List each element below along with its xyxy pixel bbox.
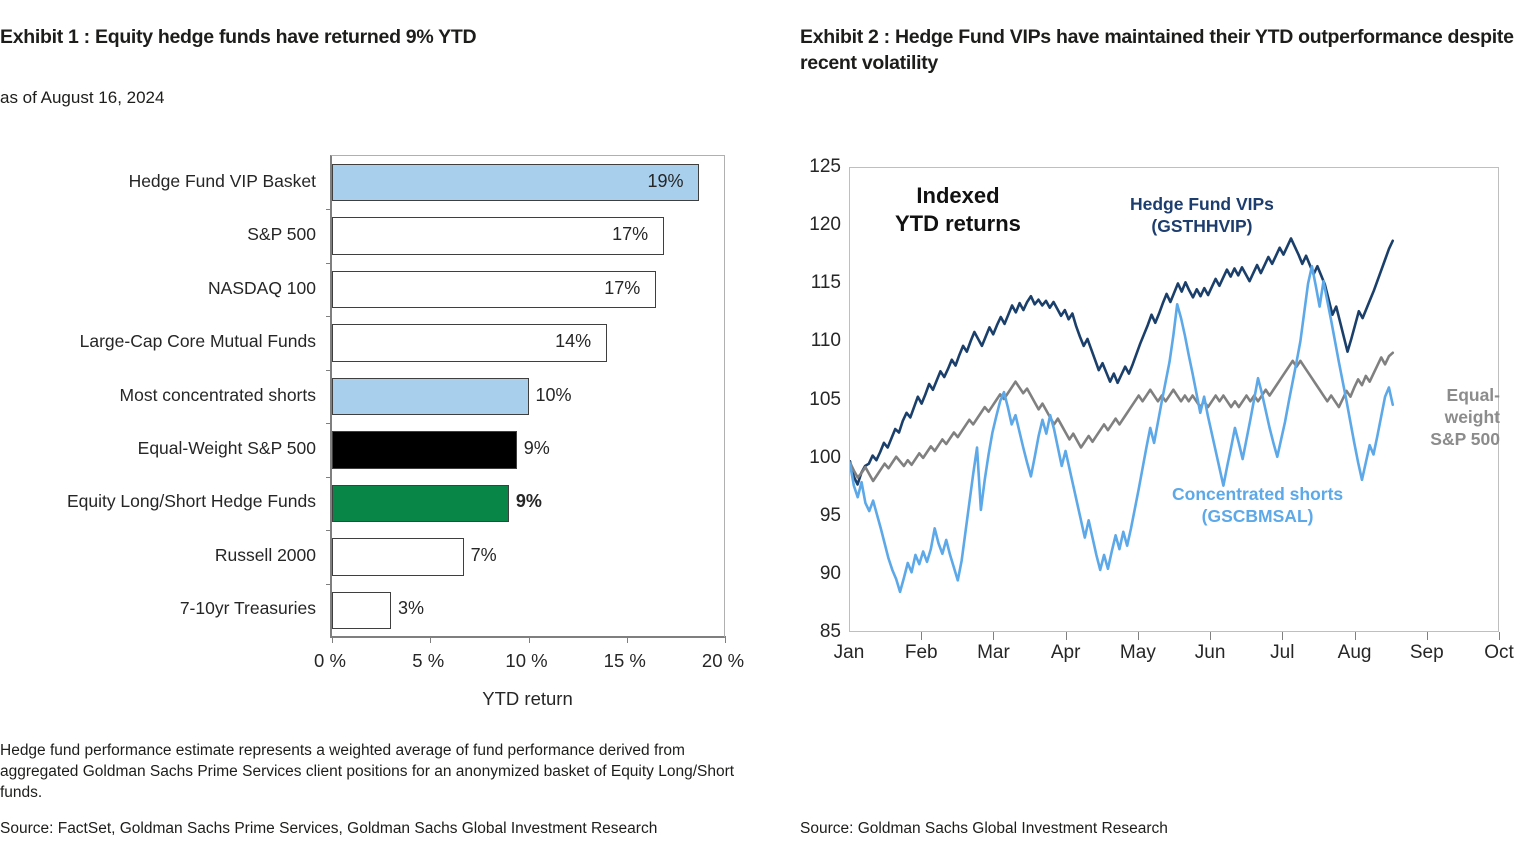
bar-value-label-5: 10% xyxy=(536,385,572,406)
bar-chart-plot-area: 19%17%17%14%10%9%9%7%3% xyxy=(330,155,725,638)
bar-x-tick-label-3: 15 % xyxy=(604,650,646,672)
annotation-indexed-line2: YTD returns xyxy=(895,210,1021,238)
line-y-tick-label-1: 90 xyxy=(795,563,841,585)
line-y-tick-label-3: 100 xyxy=(795,447,841,469)
bar-category-label-3: NASDAQ 100 xyxy=(0,278,316,299)
line-y-tick-label-0: 85 xyxy=(795,621,841,643)
bar-y-tick-5 xyxy=(326,423,332,424)
exhibit-2-title: Exhibit 2 : Hedge Fund VIPs have maintai… xyxy=(800,24,1520,76)
line-x-tick-label-5: Jun xyxy=(1195,642,1226,664)
line-x-tick-8 xyxy=(1427,632,1428,640)
annotation-hedge-fund-vips: Hedge Fund VIPs (GSTHHVIP) xyxy=(1130,193,1274,237)
annotation-ew-line3: S&P 500 xyxy=(1388,428,1500,450)
bar-x-tick-0 xyxy=(332,636,333,643)
line-y-tick-label-7: 120 xyxy=(795,214,841,236)
bar-category-label-7: Equity Long/Short Hedge Funds xyxy=(0,491,316,512)
exhibit-1-title: Exhibit 1 : Equity hedge funds have retu… xyxy=(0,24,740,50)
bar-6 xyxy=(332,431,517,468)
line-x-tick-label-6: Jul xyxy=(1270,642,1294,664)
line-x-tick-6 xyxy=(1282,632,1283,640)
bar-y-tick-4 xyxy=(326,370,332,371)
annotation-ew-line1: Equal- xyxy=(1388,384,1500,406)
line-y-tick-label-2: 95 xyxy=(795,505,841,527)
bar-9 xyxy=(332,592,391,629)
bar-value-label-7: 9% xyxy=(516,491,542,512)
bar-chart-x-axis-title: YTD return xyxy=(330,688,725,710)
bar-category-label-2: S&P 500 xyxy=(0,224,316,245)
bar-category-label-8: Russell 2000 xyxy=(0,545,316,566)
bar-category-label-1: Hedge Fund VIP Basket xyxy=(0,171,316,192)
line-x-tick-label-4: May xyxy=(1120,642,1156,664)
line-x-tick-3 xyxy=(1066,632,1067,640)
bar-7 xyxy=(332,485,509,522)
annotation-shorts-line2: (GSCBMSAL) xyxy=(1172,505,1343,527)
annotation-shorts-line1: Concentrated shorts xyxy=(1172,483,1343,505)
bar-5 xyxy=(332,378,529,415)
line-x-tick-9 xyxy=(1499,632,1500,640)
annotation-vips-line1: Hedge Fund VIPs xyxy=(1130,193,1274,215)
exhibit-1-source: Source: FactSet, Goldman Sachs Prime Ser… xyxy=(0,818,760,839)
exhibit-1-asof-label: as of August 16, 2024 xyxy=(0,88,164,108)
bar-x-tick-label-1: 5 % xyxy=(412,650,444,672)
line-y-tick-label-8: 125 xyxy=(795,156,841,178)
line-x-tick-7 xyxy=(1355,632,1356,640)
line-x-tick-label-7: Aug xyxy=(1338,642,1372,664)
bar-x-tick-1 xyxy=(430,636,431,643)
bar-x-tick-label-0: 0 % xyxy=(314,650,346,672)
bar-x-tick-4 xyxy=(725,636,726,643)
bar-value-label-8: 7% xyxy=(471,545,497,566)
line-y-tick-label-5: 110 xyxy=(795,330,841,352)
bar-x-tick-3 xyxy=(627,636,628,643)
annotation-indexed-line1: Indexed xyxy=(895,182,1021,210)
bar-8 xyxy=(332,538,464,575)
indexed-ytd-returns-line-chart: 859095100105110115120125 JanFebMarAprMay… xyxy=(790,120,1533,680)
line-x-tick-label-8: Sep xyxy=(1410,642,1444,664)
bar-category-label-4: Large-Cap Core Mutual Funds xyxy=(0,331,316,352)
bar-x-tick-2 xyxy=(529,636,530,643)
line-y-tick-label-4: 105 xyxy=(795,389,841,411)
bar-x-tick-label-2: 10 % xyxy=(505,650,547,672)
exhibit-1-panel: Exhibit 1 : Equity hedge funds have retu… xyxy=(0,0,766,862)
annotation-indexed-ytd-returns: Indexed YTD returns xyxy=(895,182,1021,238)
exhibit-2-panel: Exhibit 2 : Hedge Fund VIPs have maintai… xyxy=(790,0,1533,862)
line-y-tick-label-6: 115 xyxy=(795,272,841,294)
bar-value-label-3: 17% xyxy=(604,278,640,299)
bar-y-tick-3 xyxy=(326,316,332,317)
bar-y-tick-8 xyxy=(326,584,332,585)
line-x-tick-label-2: Mar xyxy=(977,642,1010,664)
bar-y-tick-6 xyxy=(326,477,332,478)
bar-value-label-1: 19% xyxy=(647,171,683,192)
bar-category-label-6: Equal-Weight S&P 500 xyxy=(0,438,316,459)
bar-value-label-9: 3% xyxy=(398,598,424,619)
bar-1 xyxy=(332,164,699,201)
bar-value-label-4: 14% xyxy=(555,331,591,352)
line-x-tick-label-3: Apr xyxy=(1051,642,1081,664)
bar-category-label-5: Most concentrated shorts xyxy=(0,385,316,406)
bar-value-label-2: 17% xyxy=(612,224,648,245)
line-x-tick-label-9: Oct xyxy=(1484,642,1514,664)
bar-x-tick-label-4: 20 % xyxy=(702,650,744,672)
line-x-tick-label-0: Jan xyxy=(834,642,865,664)
bar-y-tick-2 xyxy=(326,263,332,264)
bar-y-tick-1 xyxy=(326,209,332,210)
annotation-ew-line2: weight xyxy=(1388,406,1500,428)
ytd-return-bar-chart: 19%17%17%14%10%9%9%7%3% Hedge Fund VIP B… xyxy=(0,150,766,725)
bar-value-label-6: 9% xyxy=(524,438,550,459)
line-x-tick-4 xyxy=(1138,632,1139,640)
annotation-equal-weight-sp500: Equal- weight S&P 500 xyxy=(1388,384,1500,450)
exhibit-1-footnote: Hedge fund performance estimate represen… xyxy=(0,740,745,803)
bar-y-tick-7 xyxy=(326,530,332,531)
exhibit-2-source: Source: Goldman Sachs Global Investment … xyxy=(800,818,1500,839)
line-x-tick-2 xyxy=(993,632,994,640)
bar-category-label-9: 7-10yr Treasuries xyxy=(0,598,316,619)
annotation-concentrated-shorts: Concentrated shorts (GSCBMSAL) xyxy=(1172,483,1343,527)
annotation-vips-line2: (GSTHHVIP) xyxy=(1130,215,1274,237)
line-series-3 xyxy=(850,266,1393,592)
line-x-tick-5 xyxy=(1210,632,1211,640)
line-x-tick-label-1: Feb xyxy=(905,642,938,664)
line-x-tick-1 xyxy=(921,632,922,640)
